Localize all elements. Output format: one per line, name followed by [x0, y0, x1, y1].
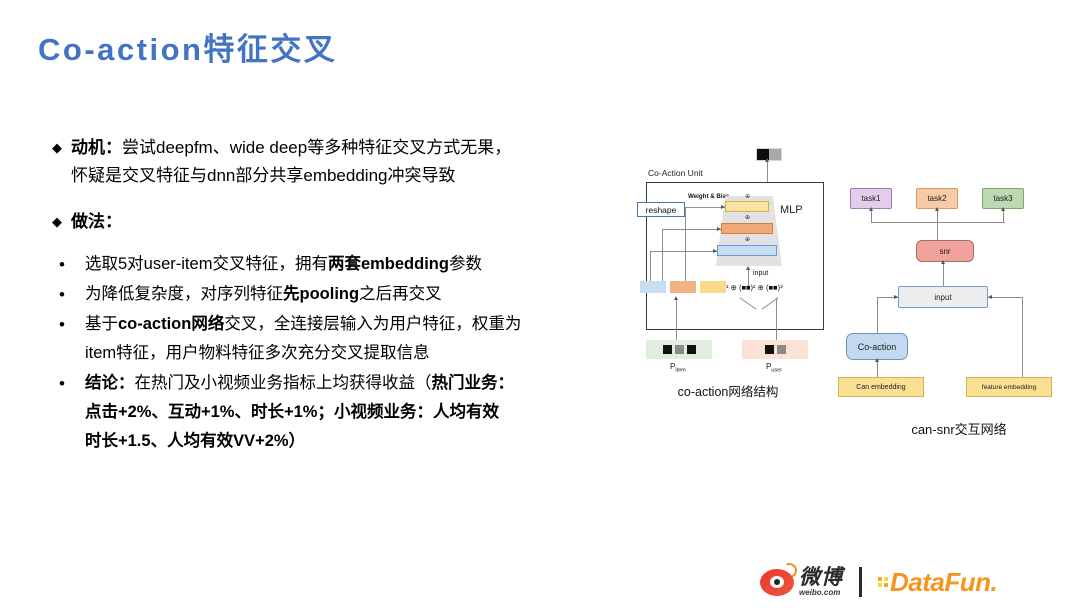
seg: 之后再交叉: [359, 285, 442, 303]
footer-divider: [859, 567, 862, 597]
diagrams-area: Co-Action Unit Weight & Bias reshape MLP…: [610, 140, 1080, 430]
mlp-layer-yellow: [725, 201, 769, 212]
arrow-icon: [674, 296, 678, 300]
node-coaction: Co-action: [846, 333, 908, 360]
slide-root: Co-action特征交叉 ◆ 动机：尝试deepfm、wide deep等多种…: [0, 0, 1080, 608]
arrow-icon: [941, 260, 945, 264]
spacer: [52, 192, 592, 208]
diamond-bullet-icon: ◆: [52, 134, 62, 162]
list-item-1-text: 选取5对user-item交叉特征，拥有两套embedding参数: [85, 250, 482, 279]
arrow-icon: [894, 295, 898, 299]
embedding-bar-orange: [670, 281, 696, 293]
plus-icon: ⊕: [745, 214, 750, 221]
node-feature-embedding: feature embedding: [966, 377, 1052, 397]
seg: 在热门及小视频业务指标上均获得收益（: [135, 374, 432, 392]
arrow-icon: [1001, 207, 1005, 211]
weibo-wordmark: 微博 weibo.com: [799, 567, 843, 597]
cell: [777, 345, 786, 354]
p-item-vector: [646, 340, 712, 359]
dot-bullet-icon: •: [52, 369, 85, 398]
footer-logos: 微博 weibo.com DataFun.: [760, 560, 1070, 604]
seg-bold: 热门业务：: [432, 374, 515, 392]
list-item-2: • 为降低复杂度，对序列特征先pooling之后再交叉: [52, 280, 592, 309]
seg: 选取5对user-item交叉特征，拥有: [85, 255, 328, 273]
weight-bias-label: Weight & Bias: [688, 193, 730, 200]
can-snr-diagram: task1 task2 task3 snr input Co-action: [838, 178, 1080, 408]
seg-bold: co-action网络: [118, 315, 224, 333]
node-task2: task2: [916, 188, 958, 209]
p-item-subscript: item: [675, 368, 685, 374]
connector: [650, 251, 717, 252]
node-task3: task3: [982, 188, 1024, 209]
cell: [675, 345, 684, 354]
cell: [687, 345, 696, 354]
arrow-icon: [717, 227, 721, 231]
connector: [871, 222, 1005, 223]
dot-bullet-icon: •: [52, 280, 85, 309]
page-title: Co-action特征交叉: [38, 24, 337, 69]
co-action-unit-title: Co-Action Unit: [648, 168, 703, 178]
arrow-icon: [988, 295, 992, 299]
plus-icon: ⊕: [745, 236, 750, 243]
embedding-bar-yellow: [700, 281, 726, 293]
dot-bullet-icon: •: [52, 250, 85, 279]
list-item-4: • 结论：在热门及小视频业务指标上均获得收益（热门业务： 点击+2%、互动+1%…: [52, 369, 592, 456]
cell: [765, 345, 774, 354]
list-item-3: • 基于co-action网络交叉，全连接层输入为用户特征，权重为 item特征…: [52, 310, 592, 368]
connector: [988, 297, 1022, 298]
connector: [662, 229, 663, 281]
plus-icon: ⊕: [745, 193, 750, 200]
connector: [662, 229, 721, 230]
weibo-logo: 微博 weibo.com: [760, 567, 843, 597]
bullet-method-text: 做法：: [71, 208, 122, 236]
bullet-method: ◆ 做法：: [52, 208, 592, 236]
connector: [937, 222, 938, 240]
connector: [650, 251, 651, 281]
arrow-icon: [765, 158, 769, 162]
list-item-1: • 选取5对user-item交叉特征，拥有两套embedding参数: [52, 250, 592, 279]
bullet-method-label: 做法：: [71, 212, 122, 231]
connector: [685, 207, 725, 208]
connector: [877, 297, 878, 333]
connector: [676, 298, 677, 340]
seg: 参数: [449, 255, 482, 273]
datafun-wordmark: DataFun.: [890, 567, 997, 598]
arrow-icon: [875, 358, 879, 362]
list-item-2-text: 为降低复杂度，对序列特征先pooling之后再交叉: [85, 280, 442, 309]
mlp-layer-orange: [721, 223, 773, 234]
seg-bold: 两套embedding: [328, 255, 449, 273]
datafun-dots-icon: [878, 577, 888, 587]
bullet-motivation-label: 动机：: [71, 138, 122, 157]
right-diagram-caption: can-snr交互网络: [838, 419, 1080, 438]
connector: [943, 262, 944, 286]
connector: [685, 207, 686, 281]
bullet-motivation: ◆ 动机：尝试deepfm、wide deep等多种特征交叉方式无果， 怀疑是交…: [52, 134, 592, 190]
bullet-motivation-text: 动机：尝试deepfm、wide deep等多种特征交叉方式无果， 怀疑是交叉特…: [71, 134, 511, 190]
output-vector-icon: [756, 148, 782, 161]
embedding-bar-blue: [640, 281, 666, 293]
mlp-layer-blue: [717, 245, 777, 256]
seg-bold: 点击+2%、互动+1%、时长+1%；小视频业务：人均有效: [85, 403, 499, 421]
weibo-name-cn: 微博: [799, 567, 843, 588]
seg-bold: 结论：: [85, 374, 135, 392]
weibo-name-en: weibo.com: [799, 589, 843, 597]
arrow-icon: [713, 249, 717, 253]
arrow-icon: [746, 266, 750, 270]
p-item-label: Pitem: [670, 362, 686, 374]
cell: [663, 345, 672, 354]
spacer: [52, 238, 592, 250]
dot-bullet-icon: •: [52, 310, 85, 339]
mlp-label: MLP: [780, 204, 803, 216]
weibo-signal-icon: [780, 560, 799, 579]
arrow-icon: [869, 207, 873, 211]
connector: [776, 298, 777, 340]
connector: [767, 159, 768, 182]
seg: item特征，用户物料特征多次充分交叉提取信息: [85, 344, 430, 362]
p-user-vector: [742, 340, 808, 359]
seg-bold: 先pooling: [283, 285, 359, 303]
node-task1: task1: [850, 188, 892, 209]
list-item-3-text: 基于co-action网络交叉，全连接层输入为用户特征，权重为 item特征，用…: [85, 310, 521, 368]
weibo-eye-icon: [760, 569, 794, 596]
input-label: input: [753, 270, 768, 277]
bullet-motivation-line1: 尝试deepfm、wide deep等多种特征交叉方式无果，: [122, 138, 511, 157]
node-snr: snr: [916, 240, 974, 262]
p-user-subscript: user: [771, 368, 782, 374]
connector: [1022, 297, 1023, 377]
arrow-icon: [935, 207, 939, 211]
seg-bold: 时长+1.5、人均有效VV+2%）: [85, 432, 305, 450]
p-user-label: Puser: [766, 362, 782, 374]
seg: 基于: [85, 315, 118, 333]
node-can-embedding: Can embedding: [838, 377, 924, 397]
left-diagram-caption: co-action网络结构: [628, 381, 828, 400]
node-input: input: [898, 286, 988, 308]
diamond-bullet-icon: ◆: [52, 208, 62, 236]
co-action-unit-diagram: Co-Action Unit Weight & Bias reshape MLP…: [628, 140, 828, 405]
content-text-column: ◆ 动机：尝试deepfm、wide deep等多种特征交叉方式无果， 怀疑是交…: [52, 134, 592, 457]
arrow-icon: [721, 205, 725, 209]
connector: [877, 360, 878, 377]
seg: 交叉，全连接层输入为用户特征，权重为: [224, 315, 521, 333]
bullet-motivation-line2: 怀疑是交叉特征与dnn部分共享embedding冲突导致: [71, 166, 455, 185]
reshape-box: reshape: [637, 202, 685, 217]
seg: 为降低复杂度，对序列特征: [85, 285, 283, 303]
datafun-logo: DataFun.: [878, 567, 997, 598]
list-item-4-text: 结论：在热门及小视频业务指标上均获得收益（热门业务： 点击+2%、互动+1%、时…: [85, 369, 514, 456]
